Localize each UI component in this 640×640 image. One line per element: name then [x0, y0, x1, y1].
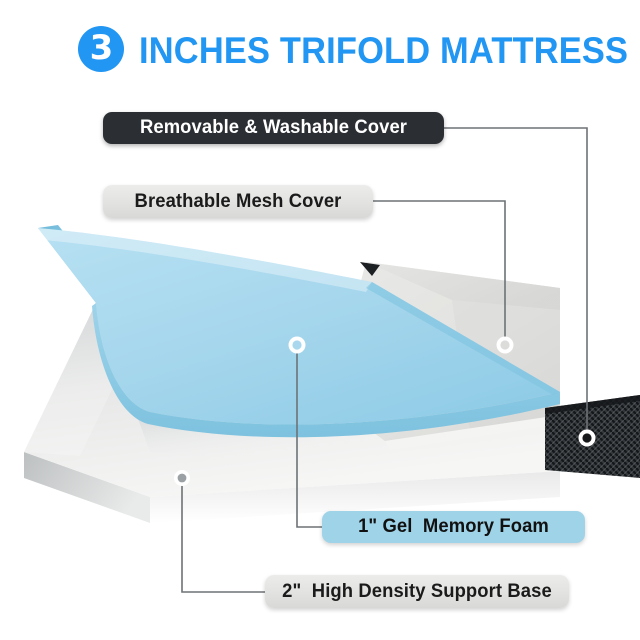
- connector-line-base: [182, 486, 265, 592]
- marker-core-support-base: [178, 474, 187, 483]
- marker-core-gel-foam: [292, 340, 301, 349]
- callout-connectors: [0, 0, 640, 640]
- callout-label-removable-washable-cover[interactable]: Removable & Washable Cover: [103, 112, 444, 144]
- callout-label-gel-memory-foam[interactable]: 1" Gel Memory Foam: [322, 511, 585, 543]
- callout-label-text: 2" High Density Support Base: [270, 581, 565, 603]
- ring-markers: [174, 337, 596, 487]
- callout-label-breathable-mesh-cover[interactable]: Breathable Mesh Cover: [103, 185, 373, 218]
- connector-line-cover: [444, 128, 587, 430]
- callout-label-text: Removable & Washable Cover: [108, 117, 439, 139]
- connector-line-mesh: [373, 201, 505, 337]
- marker-core-removable-cover: [582, 433, 591, 442]
- marker-core-mesh-cover: [500, 340, 509, 349]
- callout-label-text: 1" Gel Memory Foam: [326, 516, 581, 538]
- callout-label-high-density-support-base[interactable]: 2" High Density Support Base: [265, 575, 569, 608]
- infographic-canvas: 3 INCHES TRIFOLD MATTRESS: [0, 0, 640, 640]
- connector-line-gel: [297, 353, 322, 527]
- callout-label-text: Breathable Mesh Cover: [107, 191, 369, 213]
